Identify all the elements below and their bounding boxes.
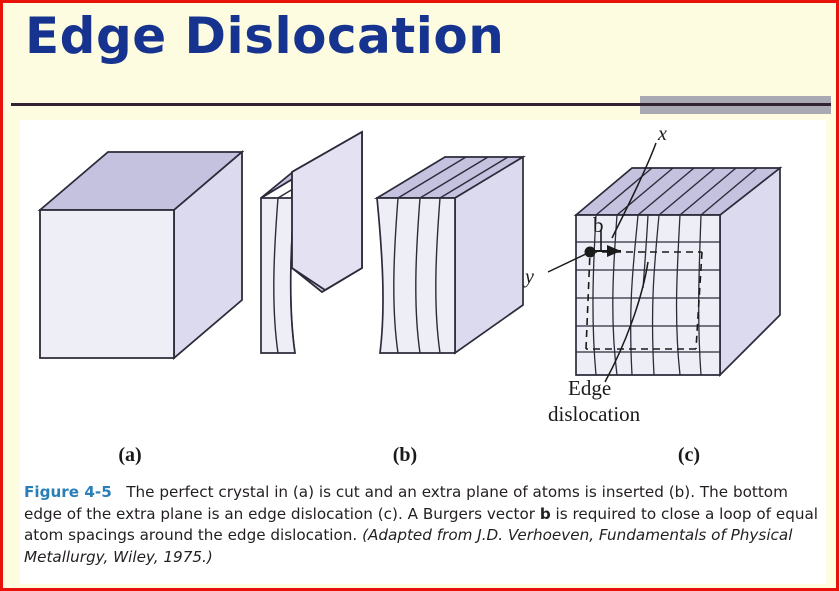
right-block: [377, 157, 523, 353]
panel-label-a: (a): [100, 444, 160, 467]
page-title: Edge Dislocation: [25, 7, 504, 65]
axis-y-label: y: [523, 266, 534, 288]
cube-a-front-face: [40, 210, 174, 358]
panel-label-c: (c): [659, 444, 719, 467]
diagram-a-perfect-crystal: [40, 152, 242, 358]
panel-label-b: (b): [375, 444, 435, 467]
caption-bold-symbol: b: [540, 505, 551, 523]
crystal-figure-svg: x y b Edge dislocation: [20, 120, 826, 470]
left-block-front-surface: [261, 198, 295, 353]
caption-figure-number: Figure 4-5: [24, 483, 112, 501]
figure-caption: Figure 4-5 The perfect crystal in (a) is…: [24, 482, 820, 568]
axis-x-label: x: [657, 123, 667, 145]
edge-dislocation-label-line1: Edge: [568, 376, 611, 400]
content-panel: x y b Edge dislocation (a) (b) (c) Figur…: [20, 120, 826, 584]
inserted-extra-plane: [292, 132, 362, 290]
edge-dislocation-label-line2: dislocation: [548, 402, 641, 426]
divider-line-overlay: [640, 103, 831, 106]
burgers-vector-label: b: [593, 213, 604, 237]
figure-area: x y b Edge dislocation: [20, 120, 826, 470]
slide-container: Edge Dislocation: [0, 0, 839, 591]
diagram-b-cut-crystal: [261, 132, 523, 353]
diagram-c-edge-dislocation: x y b Edge dislocation: [523, 123, 780, 426]
title-bar: Edge Dislocation: [3, 3, 836, 95]
